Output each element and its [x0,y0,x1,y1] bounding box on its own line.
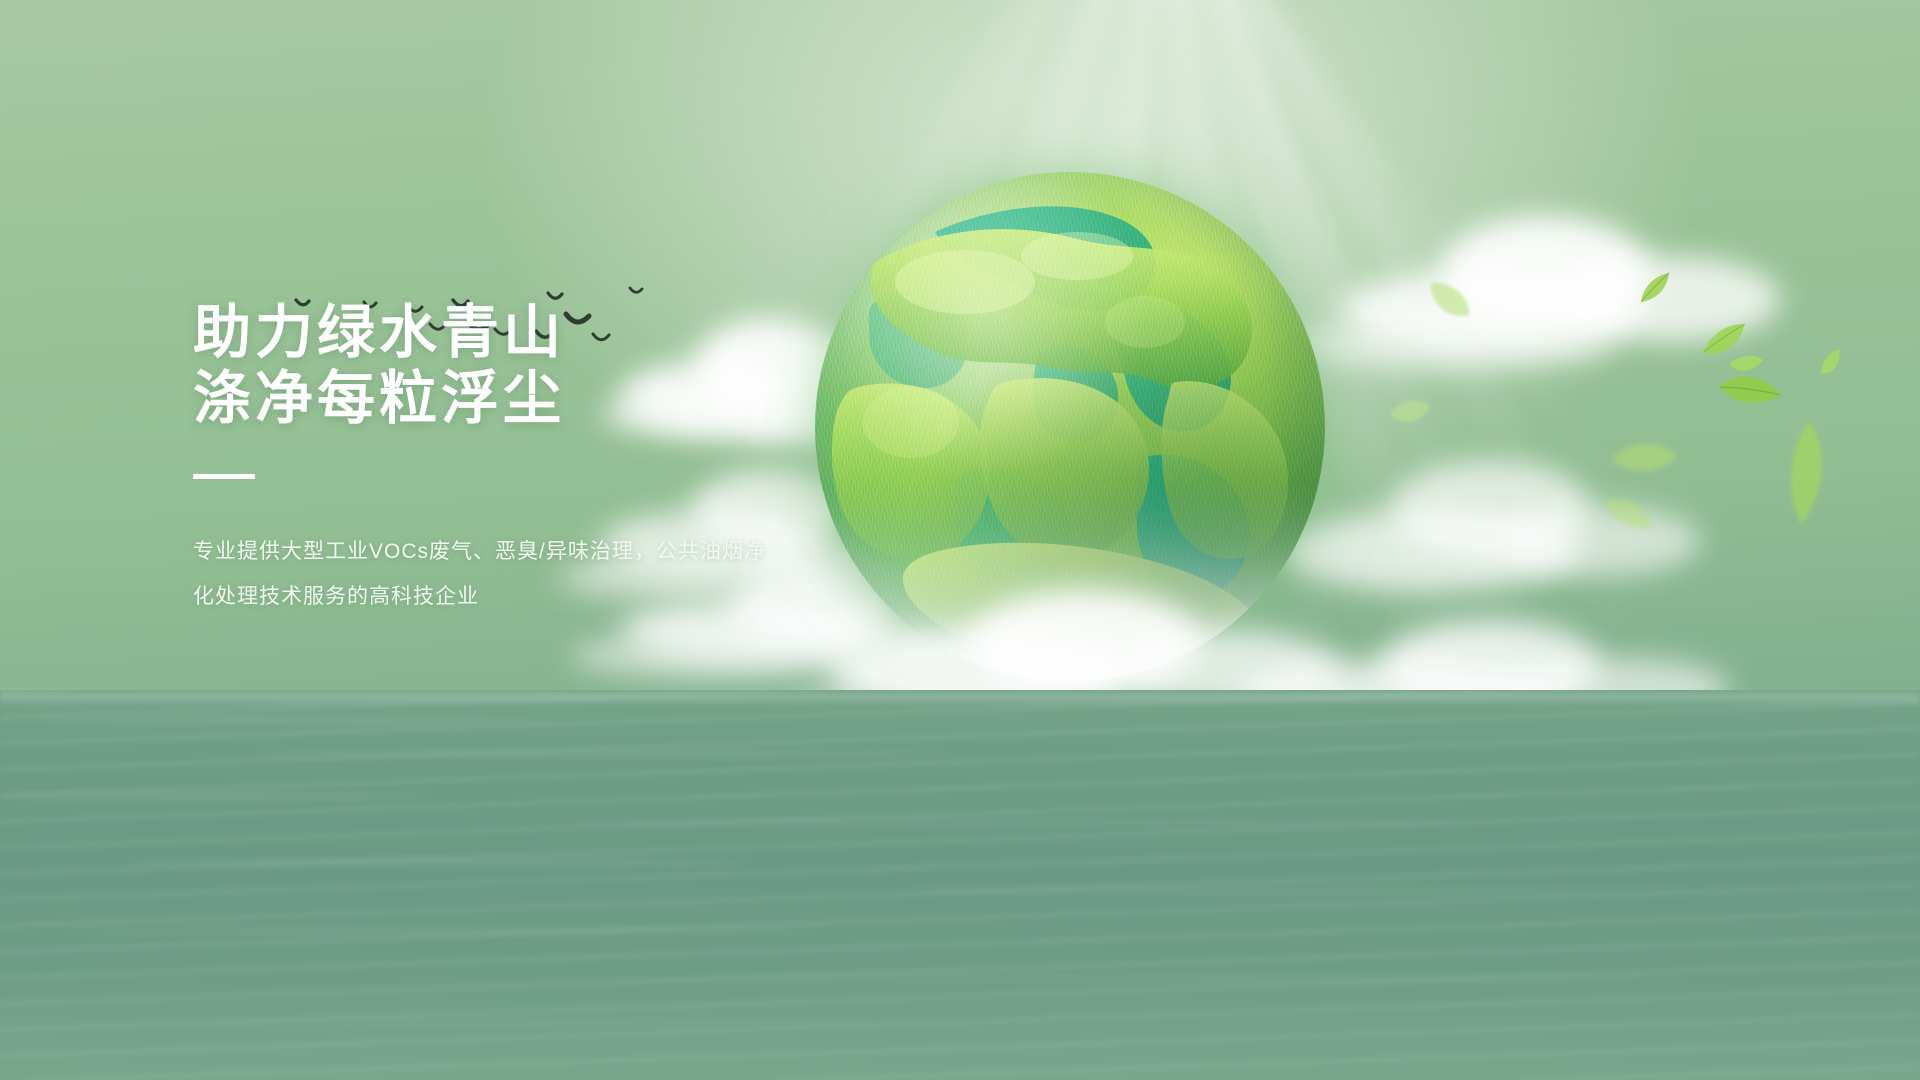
falling-leaf [1716,365,1785,418]
hero-banner: 助力绿水青山 涤净每粒浮尘 专业提供大型工业VOCs废气、恶臭/异味治理，公共油… [0,0,1920,1080]
subtitle-line-2: 化处理技术服务的高科技企业 [193,574,953,619]
falling-leaf [1635,268,1675,313]
water-surface [0,690,1920,1080]
falling-leaf [1813,346,1853,386]
hero-copy: 助力绿水青山 涤净每粒浮尘 专业提供大型工业VOCs废气、恶臭/异味治理，公共油… [193,300,953,619]
water-ripple [0,794,430,799]
water-ripple [200,1020,880,1025]
water-ripple [60,928,820,933]
water-ripple [40,718,560,723]
title-divider [193,474,255,479]
hero-subtitle: 专业提供大型工业VOCs废气、恶臭/异味治理，公共油烟净 化处理技术服务的高科技… [193,529,953,619]
water-ripple [250,752,950,757]
headline-line-1: 助力绿水青山 [193,300,953,366]
subtitle-line-1: 专业提供大型工业VOCs废气、恶臭/异味治理，公共油烟净 [193,529,953,574]
falling-leaf-blurred [1386,392,1437,437]
falling-leaf-blurred [1749,410,1872,536]
water-ripple [900,888,1700,893]
water-ripple [700,976,1680,981]
headline-line-2: 涤净每粒浮尘 [193,366,953,432]
water-ripple [560,820,1460,825]
water-ripple [120,860,760,865]
page-title: 助力绿水青山 涤净每粒浮尘 [193,300,953,432]
